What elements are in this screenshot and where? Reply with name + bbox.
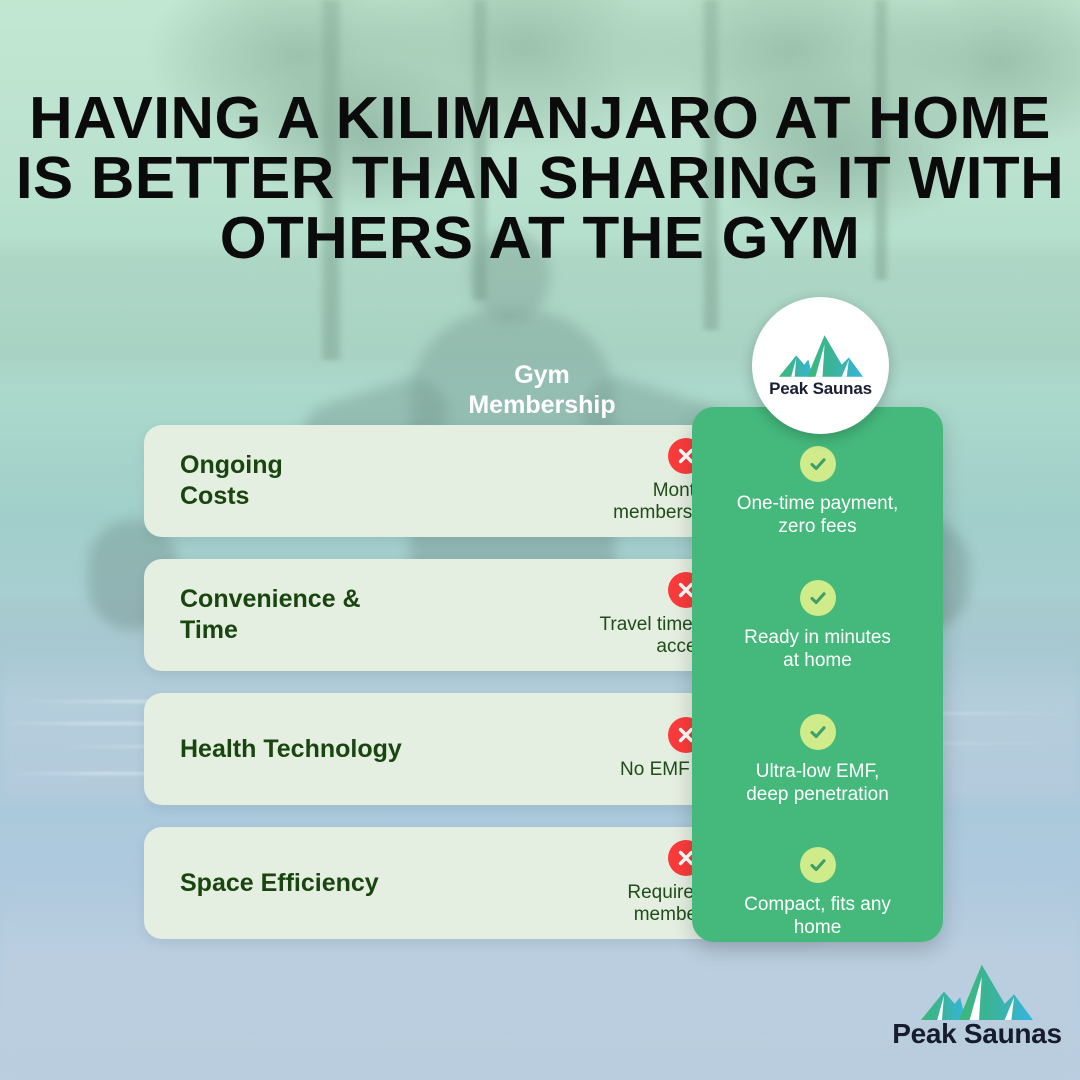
row-label: Convenience &Time bbox=[180, 559, 510, 671]
column-header-gym-line-2: Membership bbox=[412, 390, 672, 420]
peak-cell: One-time payment,zero fees bbox=[692, 446, 943, 538]
check-circle-icon bbox=[800, 580, 836, 616]
peak-cell-text: Compact, fits anyhome bbox=[692, 893, 943, 939]
mountain-peaks-icon bbox=[778, 333, 864, 377]
peak-saunas-column-panel: One-time payment,zero fees Ready in minu… bbox=[692, 407, 943, 942]
infographic-canvas: HAVING A KILIMANJARO AT HOME IS BETTER T… bbox=[0, 0, 1080, 1080]
peak-cell-text: One-time payment,zero fees bbox=[692, 492, 943, 538]
peak-cell: Ready in minutesat home bbox=[692, 580, 943, 672]
column-header-gym-line-1: Gym bbox=[412, 360, 672, 390]
check-circle-icon bbox=[800, 714, 836, 750]
check-circle-icon bbox=[800, 847, 836, 883]
peak-cell-text: Ultra-low EMF,deep penetration bbox=[692, 760, 943, 806]
row-label-text: Health Technology bbox=[180, 734, 402, 765]
row-label-text: Space Efficiency bbox=[180, 868, 379, 899]
peak-cell: Compact, fits anyhome bbox=[692, 847, 943, 939]
check-circle-icon bbox=[800, 446, 836, 482]
row-label: OngoingCosts bbox=[180, 425, 510, 537]
brand-logo-badge: Peak Saunas bbox=[752, 297, 889, 434]
page-title-line-3: OTHERS AT THE GYM bbox=[0, 208, 1080, 268]
footer-brand-logo: Peak Saunas bbox=[888, 962, 1066, 1050]
page-title: HAVING A KILIMANJARO AT HOME IS BETTER T… bbox=[0, 88, 1080, 268]
row-label: Health Technology bbox=[180, 693, 510, 805]
peak-cell: Ultra-low EMF,deep penetration bbox=[692, 714, 943, 806]
row-label-text: OngoingCosts bbox=[180, 450, 283, 512]
brand-wordmark: Peak Saunas bbox=[769, 379, 872, 399]
brand-wordmark: Peak Saunas bbox=[892, 1018, 1061, 1050]
mountain-peaks-icon bbox=[902, 962, 1052, 1020]
column-header-gym: Gym Membership bbox=[412, 360, 672, 420]
page-title-line-1: HAVING A KILIMANJARO AT HOME bbox=[0, 88, 1080, 148]
row-label-text: Convenience &Time bbox=[180, 584, 361, 646]
peak-cell-text: Ready in minutesat home bbox=[692, 626, 943, 672]
row-label: Space Efficiency bbox=[180, 827, 510, 939]
page-title-line-2: IS BETTER THAN SHARING IT WITH bbox=[0, 148, 1080, 208]
